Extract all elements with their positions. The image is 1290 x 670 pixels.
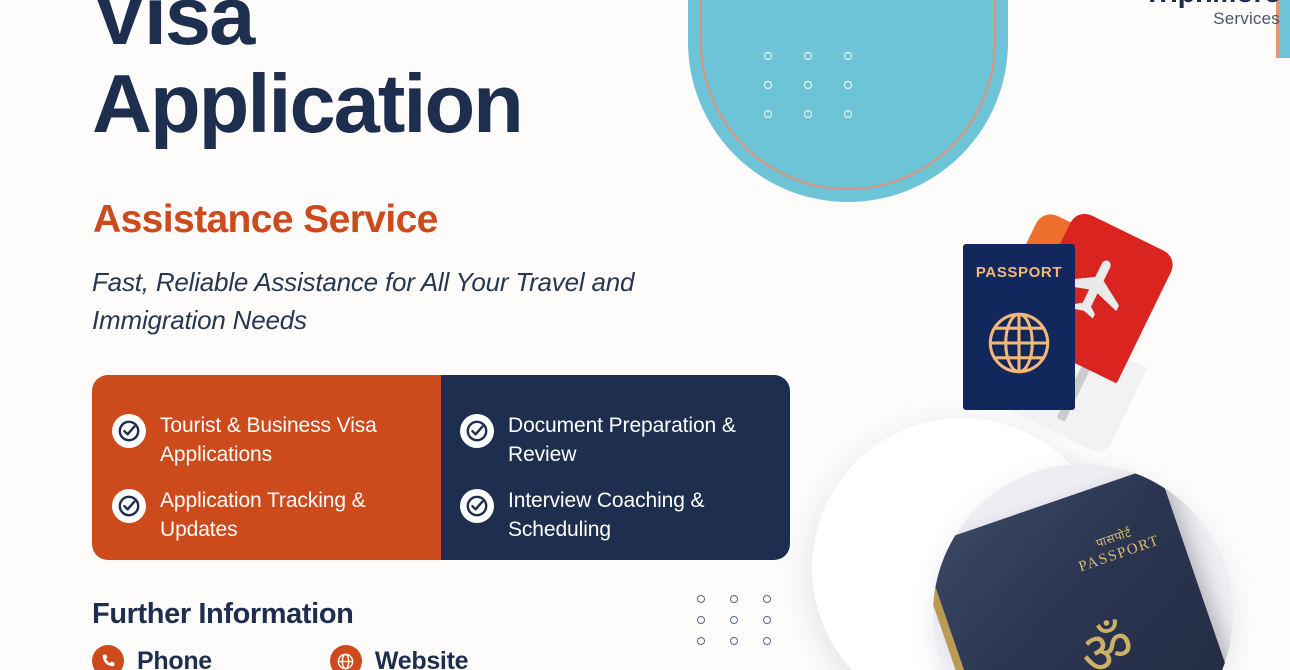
feature-label: Interview Coaching & Scheduling (508, 486, 776, 544)
passport-label: PASSPORT (963, 264, 1075, 281)
check-circle-icon (460, 489, 494, 523)
passport-book-flat: PASSPORT (963, 244, 1075, 410)
features-column-left: Tourist & Business Visa Applications App… (92, 375, 441, 560)
page-subtitle: Assistance Service (93, 198, 438, 242)
features-panel: Tourist & Business Visa Applications App… (92, 375, 790, 560)
contact-label: Website (375, 647, 468, 670)
check-circle-icon (460, 414, 494, 448)
page-title: Visa Application (92, 0, 522, 148)
title-line-2: Application (92, 60, 522, 148)
teal-arch-decoration (688, 0, 1008, 202)
title-line-1: Visa (92, 0, 522, 60)
check-circle-icon (112, 414, 146, 448)
contact-website[interactable]: Website (330, 645, 468, 670)
contact-label: Phone (137, 647, 212, 670)
list-item: Interview Coaching & Scheduling (441, 486, 790, 544)
feature-label: Document Preparation & Review (508, 411, 776, 469)
list-item: Document Preparation & Review (441, 411, 790, 469)
features-column-right: Document Preparation & Review Interview … (441, 375, 790, 560)
poster-canvas: TripnMore Services Visa Application Assi… (0, 0, 1290, 670)
brand-logo[interactable]: TripnMore Services (1143, 0, 1280, 30)
globe-icon (330, 645, 362, 670)
contact-phone[interactable]: Phone (92, 645, 212, 670)
brand-subtitle: Services (1143, 8, 1280, 30)
tagline: Fast, Reliable Assistance for All Your T… (92, 263, 752, 339)
list-item: Application Tracking & Updates (92, 486, 441, 544)
india-emblem-icon: ॐ (1068, 612, 1150, 670)
phone-icon (92, 645, 124, 670)
feature-label: Tourist & Business Visa Applications (160, 411, 427, 469)
arch-dot-grid (764, 52, 884, 139)
further-information-heading: Further Information (92, 598, 353, 631)
check-circle-icon (112, 489, 146, 523)
list-item: Tourist & Business Visa Applications (92, 411, 441, 469)
india-passport-title: पासपोर्ट PASSPORT (1071, 516, 1162, 576)
lower-dot-grid (697, 595, 796, 658)
feature-label: Application Tracking & Updates (160, 486, 427, 544)
contact-list: Phone Website (92, 645, 468, 670)
brand-name: TripnMore (1143, 0, 1280, 8)
passport-ticket-illustration: PASSPORT (955, 222, 1170, 427)
